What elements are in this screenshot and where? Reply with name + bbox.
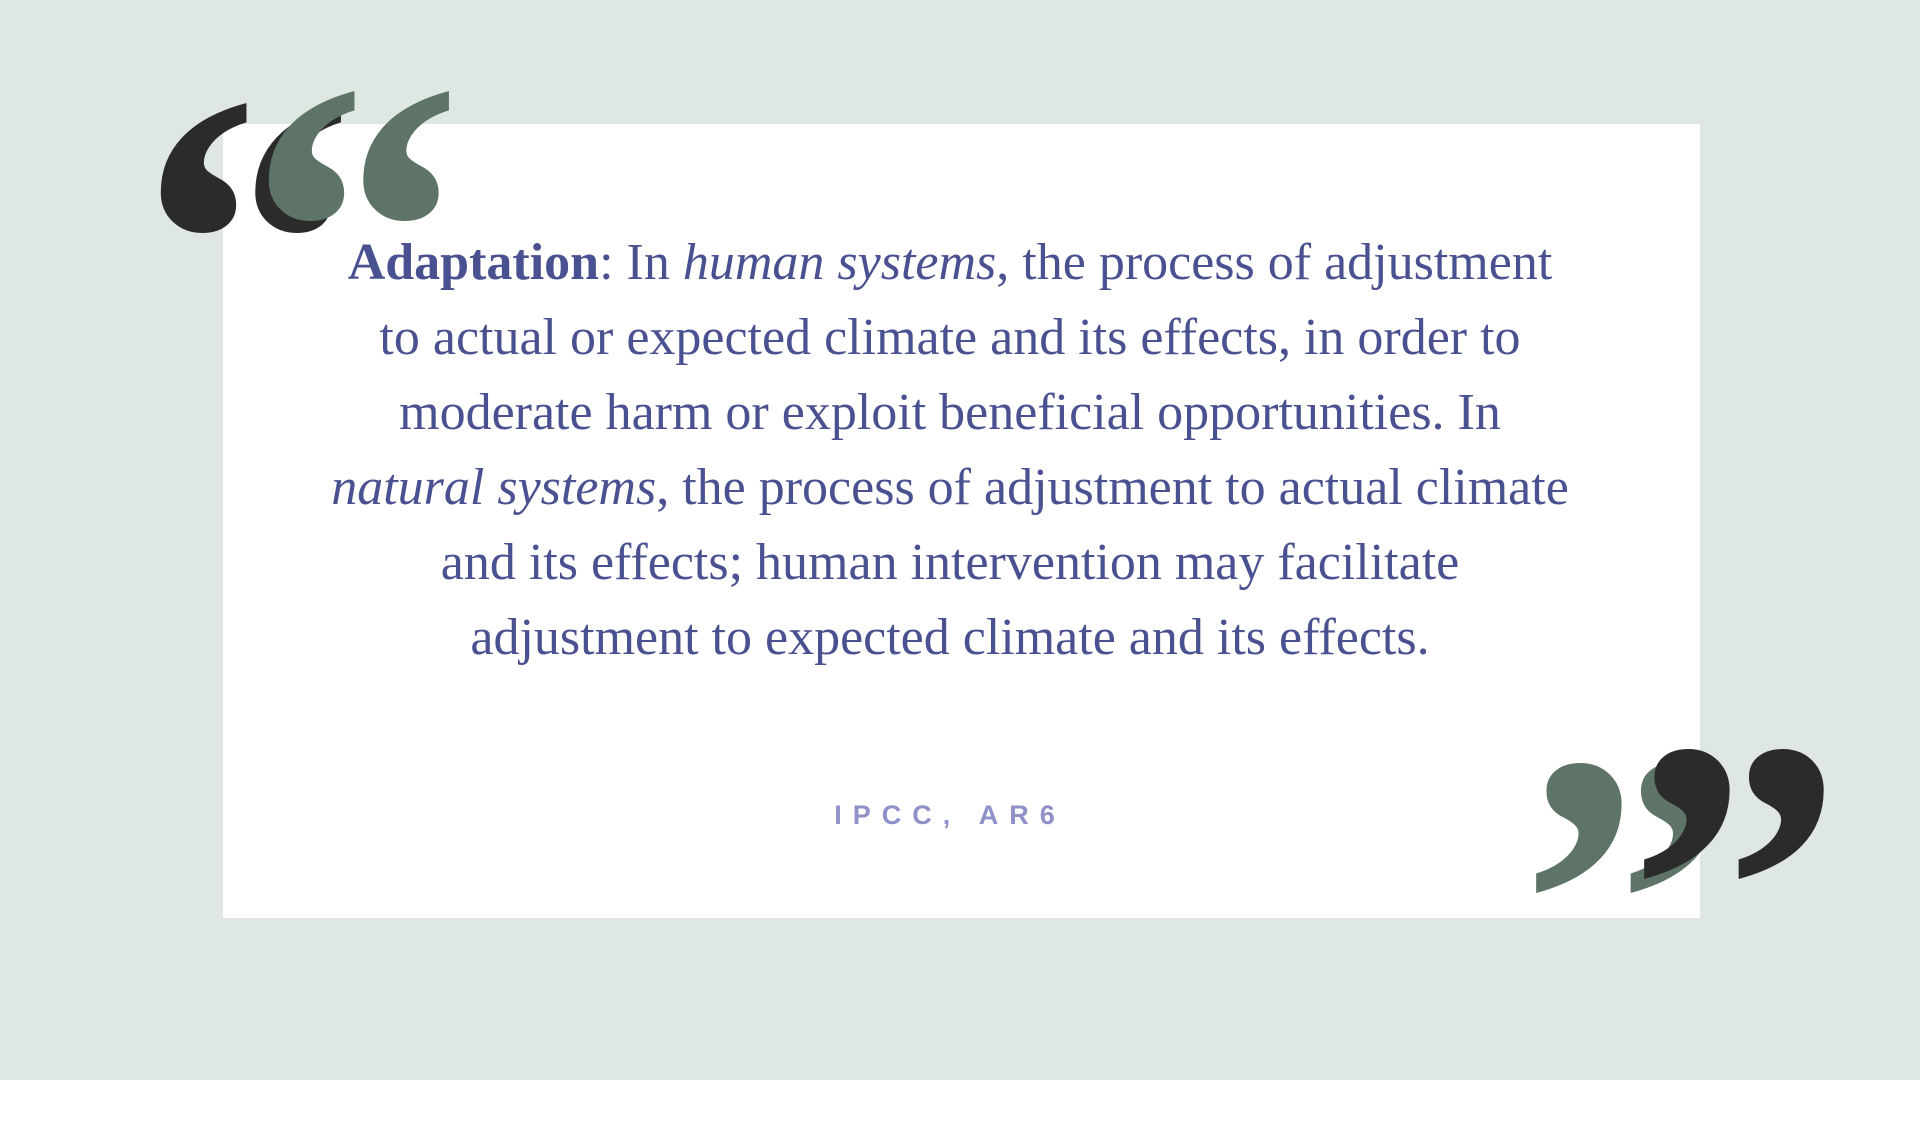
- close-quote-dark-icon: ”: [1628, 676, 1843, 1106]
- quote-after-term: : In: [599, 234, 683, 291]
- quote-emphasis-natural-systems: natural systems: [331, 459, 656, 516]
- quote-text: Adaptation: In human systems, the proces…: [330, 225, 1570, 675]
- quote-emphasis-human-systems: human systems: [683, 234, 996, 291]
- quote-card-slide: “ “ Adaptation: In human systems, the pr…: [0, 0, 1920, 1080]
- quote-term: Adaptation: [348, 234, 599, 291]
- closing-quote-marks: ” ”: [1520, 690, 1820, 940]
- quote-attribution: IPCC, AR6: [330, 800, 1570, 831]
